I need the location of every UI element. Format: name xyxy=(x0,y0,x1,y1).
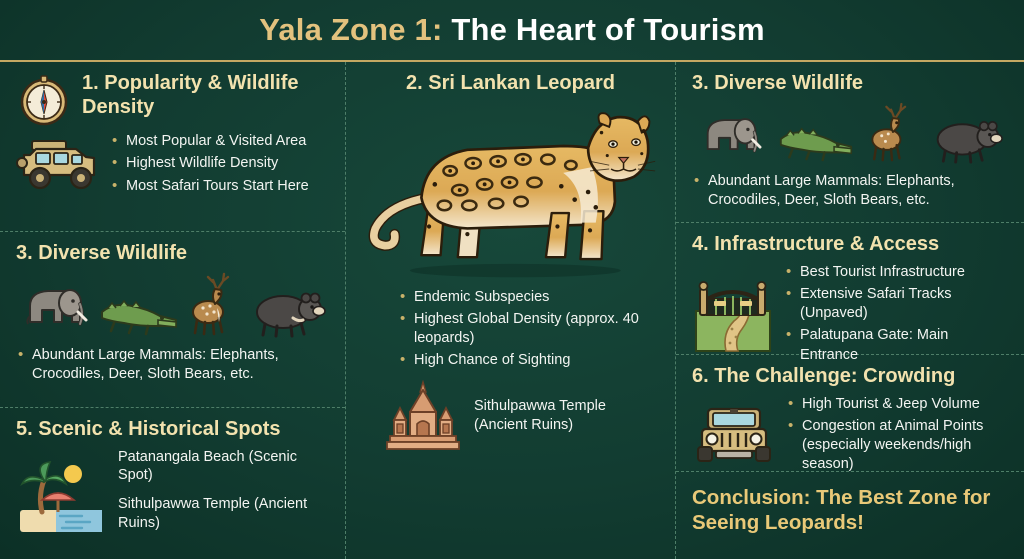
list-item: High Chance of Sighting xyxy=(398,351,659,370)
page-title-white: The Heart of Tourism xyxy=(451,12,764,47)
sloth-bear-icon xyxy=(930,111,1004,164)
park-gate-icon xyxy=(692,277,774,353)
safari-jeep-icon xyxy=(16,135,102,195)
panel-infrastructure-bullets: Best Tourist Infrastructure Extensive Sa… xyxy=(784,263,1008,368)
panel-leopard-heading: 2. Sri Lankan Leopard xyxy=(362,72,659,96)
left-column: 1. Popularity & Wildlife Density xyxy=(0,62,345,559)
panel-crowding-bullets: High Tourist & Jeep Volume Congestion at… xyxy=(786,395,1008,478)
panel-diverse-wildlife-left: 3. Diverse Wildlife xyxy=(0,232,345,408)
panel-popularity-heading: 1. Popularity & Wildlife Density xyxy=(82,72,329,119)
list-item: Abundant Large Mammals: Elephants, Croco… xyxy=(16,346,329,385)
panel-leopard: 2. Sri Lankan Leopard xyxy=(346,62,675,458)
deer-icon xyxy=(863,102,921,164)
panel-wildlife-heading: 3. Diverse Wildlife xyxy=(16,242,329,266)
page-title: Yala Zone 1: The Heart of Tourism xyxy=(259,12,765,48)
list-item: Highest Wildlife Density xyxy=(110,154,309,173)
right-column: 3. Diverse Wildlife xyxy=(676,62,1024,559)
panel-wildlife-heading-right: 3. Diverse Wildlife xyxy=(692,72,1008,96)
panel-crowding-heading: 6. The Challenge: Crowding xyxy=(692,365,1008,389)
list-item: Endemic Subspecies xyxy=(398,288,659,307)
temple-label: Sithulpawwa Temple (Ancient Ruins) xyxy=(474,397,659,435)
page-header: Yala Zone 1: The Heart of Tourism xyxy=(0,0,1024,62)
list-item: Congestion at Animal Points (especially … xyxy=(786,417,1008,475)
compass-icon xyxy=(16,72,72,128)
list-item: Most Safari Tours Start Here xyxy=(110,177,309,196)
crocodile-icon xyxy=(777,118,855,164)
panel-infrastructure-heading: 4. Infrastructure & Access xyxy=(692,233,1008,257)
elephant-icon xyxy=(18,276,94,338)
deer-icon xyxy=(183,272,245,338)
sloth-bear-icon xyxy=(249,282,327,338)
panel-popularity: 1. Popularity & Wildlife Density xyxy=(0,62,345,232)
panel-scenic-heading: 5. Scenic & Historical Spots xyxy=(16,418,329,442)
temple-icon xyxy=(386,380,460,452)
panel-crowding: 6. The Challenge: Crowding xyxy=(676,355,1024,472)
crocodile-icon xyxy=(98,290,180,338)
temple-row: Sithulpawwa Temple (Ancient Ruins) xyxy=(362,374,659,452)
scenic-items: Patanangala Beach (Scenic Spot) Sithulpa… xyxy=(118,448,329,543)
page-title-gold: Yala Zone 1: xyxy=(259,12,442,47)
panel-diverse-wildlife-right: 3. Diverse Wildlife xyxy=(676,62,1024,223)
conclusion-text: Conclusion: The Best Zone for Seeing Leo… xyxy=(676,472,1024,535)
list-item: Sithulpawwa Temple (Ancient Ruins) xyxy=(118,495,329,533)
list-item: Patanangala Beach (Scenic Spot) xyxy=(118,448,329,486)
infographic-root: Yala Zone 1: The Heart of Tourism xyxy=(0,0,1024,559)
columns-container: 1. Popularity & Wildlife Density xyxy=(0,62,1024,559)
beach-palm-icon xyxy=(16,456,106,534)
panel-wildlife-bullets: Abundant Large Mammals: Elephants, Croco… xyxy=(16,346,329,385)
list-item: High Tourist & Jeep Volume xyxy=(786,395,1008,414)
panel-scenic-spots: 5. Scenic & Historical Spots xyxy=(0,408,345,549)
center-column: 2. Sri Lankan Leopard xyxy=(345,62,676,559)
list-item: Palatupana Gate: Main Entrance xyxy=(784,326,1008,365)
leopard-illustration xyxy=(362,102,659,282)
list-item: Extensive Safari Tracks (Unpaved) xyxy=(784,285,1008,324)
list-item: Best Tourist Infrastructure xyxy=(784,263,1008,282)
elephant-icon xyxy=(696,106,768,164)
panel-infrastructure: 4. Infrastructure & Access xyxy=(676,223,1024,355)
list-item: Abundant Large Mammals: Elephants, Croco… xyxy=(692,172,1008,211)
list-item: Most Popular & Visited Area xyxy=(110,132,309,151)
list-item: Highest Global Density (approx. 40 leopa… xyxy=(398,310,659,349)
panel-popularity-bullets: Most Popular & Visited Area Highest Wild… xyxy=(110,132,309,199)
panel-leopard-bullets: Endemic Subspecies Highest Global Densit… xyxy=(362,288,659,371)
jeep-front-icon xyxy=(692,403,776,469)
animal-icon-row-right xyxy=(692,102,1008,164)
panel-wildlife-bullets-right: Abundant Large Mammals: Elephants, Croco… xyxy=(692,172,1008,211)
animal-icon-row xyxy=(16,272,329,338)
